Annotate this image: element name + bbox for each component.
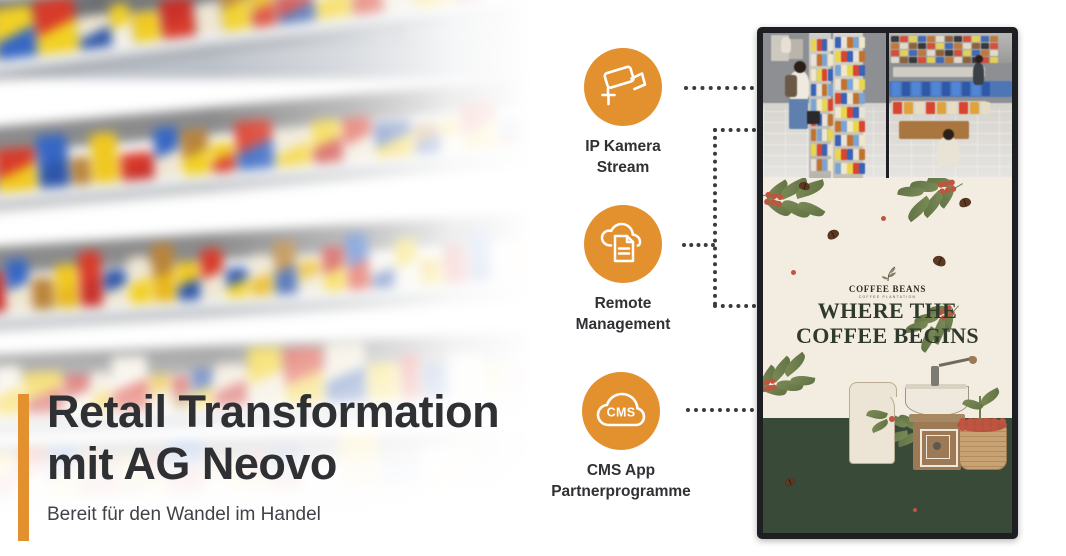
camera-feed-left <box>763 33 886 178</box>
coffee-beans-logo: COFFEE BEANS COFFEE PLANTATION <box>763 266 1012 299</box>
page-title: Retail Transformation mit AG Neovo <box>47 386 567 490</box>
feature-ip-kamera-stream[interactable]: IP Kamera Stream <box>538 48 708 178</box>
connector-remote-bottom <box>713 304 756 308</box>
camera-feed-right <box>886 33 1012 178</box>
headline-block: Retail Transformation mit AG Neovo Berei… <box>47 386 567 527</box>
cctv-split-view <box>763 33 1012 178</box>
connector-cms-to-display <box>686 408 754 412</box>
accent-bar <box>18 394 29 541</box>
cctv-camera-icon <box>584 48 662 126</box>
feature-cms-app-partnerprogramme[interactable]: CMS CMS App Partnerprogramme <box>536 372 706 502</box>
page-subtitle: Bereit für den Wandel im Handel <box>47 503 567 527</box>
display-screen: COFFEE BEANS COFFEE PLANTATION WHERE THE… <box>763 33 1012 533</box>
connector-camera-to-display <box>684 86 754 90</box>
feature-label: Remote Management <box>538 293 708 335</box>
connector-remote-stub <box>682 243 715 247</box>
cms-icon-text: CMS <box>607 406 636 420</box>
feature-label: CMS App Partnerprogramme <box>536 460 706 502</box>
connector-remote-vertical <box>713 128 717 306</box>
cloud-cms-icon: CMS <box>582 372 660 450</box>
promotional-banner: Retail Transformation mit AG Neovo Berei… <box>0 0 1066 556</box>
connector-remote-top <box>713 128 756 132</box>
coffee-poster: COFFEE BEANS COFFEE PLANTATION WHERE THE… <box>763 178 1012 533</box>
feature-remote-management[interactable]: Remote Management <box>538 205 708 335</box>
digital-signage-display[interactable]: COFFEE BEANS COFFEE PLANTATION WHERE THE… <box>757 27 1018 539</box>
cloud-document-icon <box>584 205 662 283</box>
feature-label: IP Kamera Stream <box>538 136 708 178</box>
logo-name: COFFEE BEANS <box>763 284 1012 294</box>
poster-headline: WHERE THE COFFEE BEGINS <box>763 298 1012 348</box>
